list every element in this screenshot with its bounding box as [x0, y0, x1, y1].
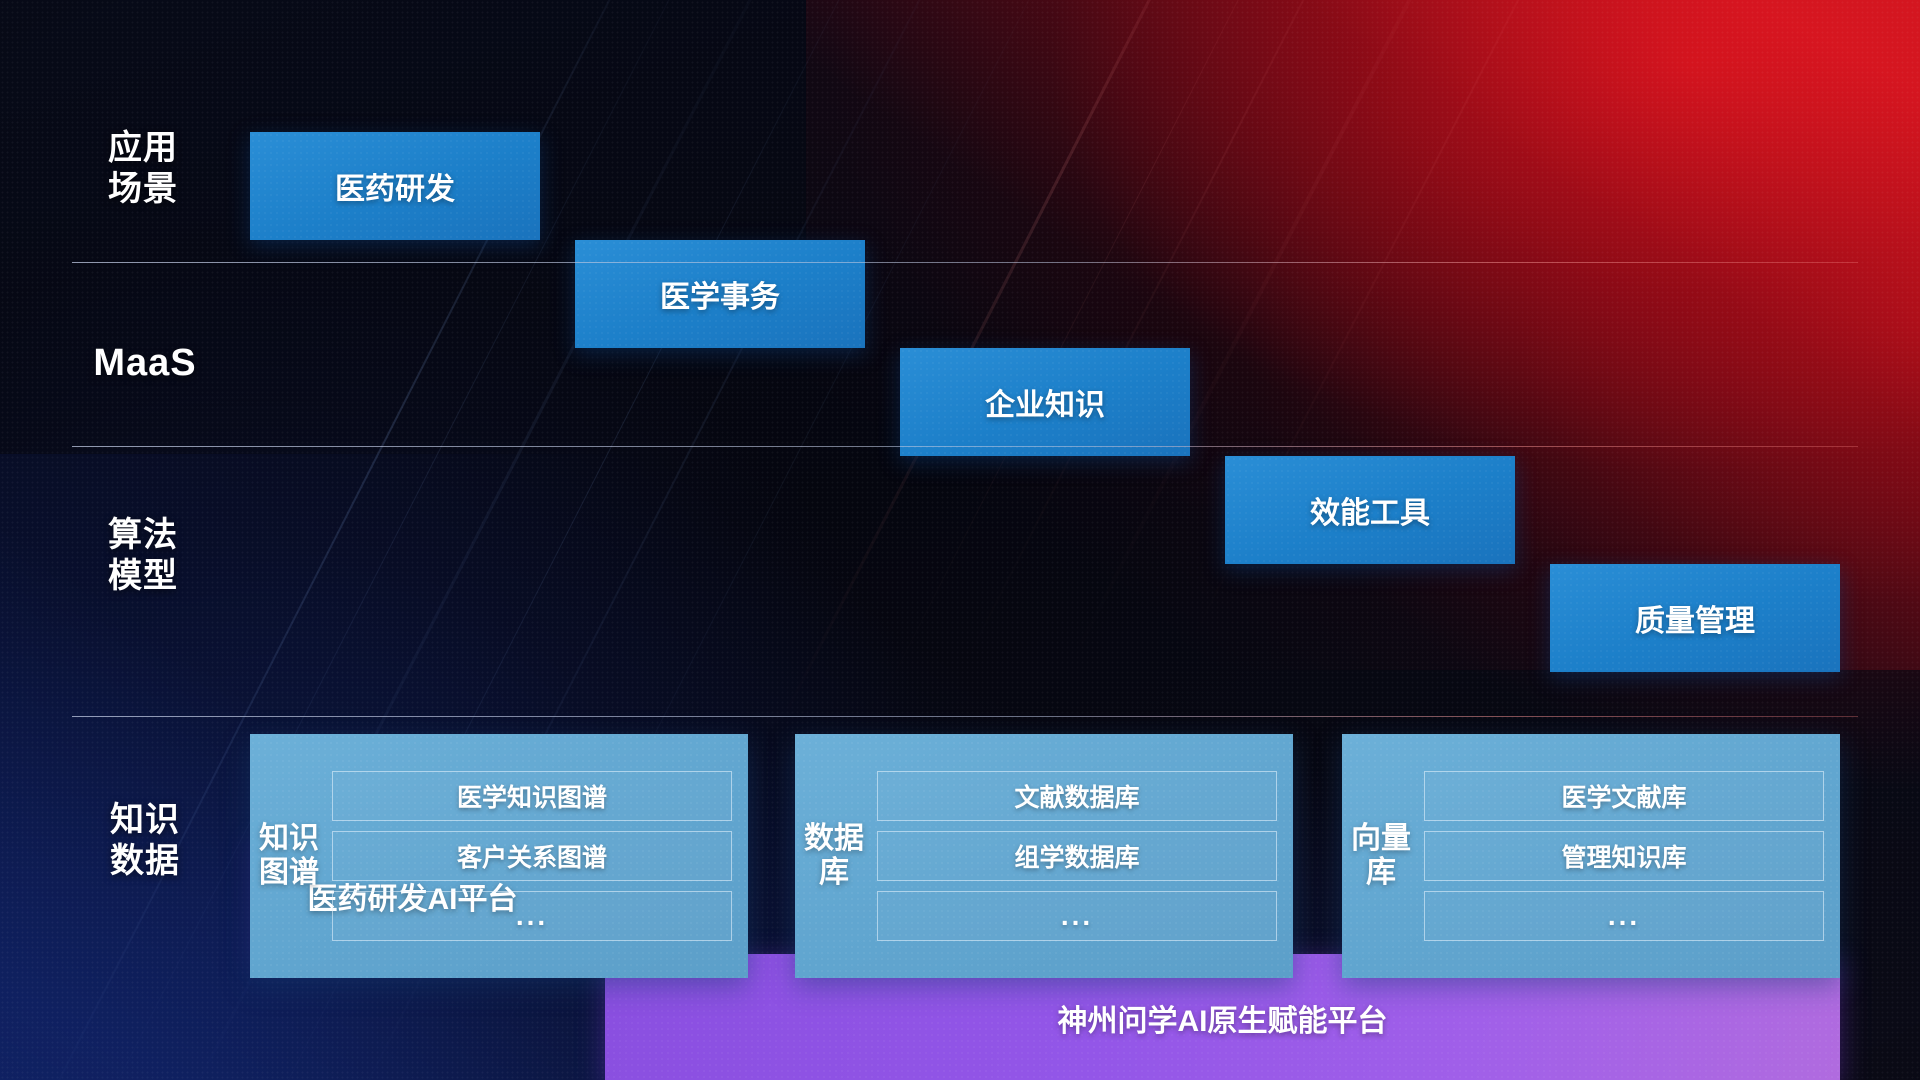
row-label-knowledge-line2: 数据	[80, 841, 210, 882]
application-cell-3[interactable]: 效能工具	[1225, 456, 1515, 564]
application-cell-2-label: 企业知识	[985, 380, 1105, 424]
divider-maas-algorithm	[72, 446, 1858, 447]
knowledge-panel-database-item-0[interactable]: 文献数据库	[877, 771, 1277, 821]
row-label-knowledge-line1: 知识	[80, 800, 210, 841]
maas-platform-shenzhou-label: 神州问学AI原生赋能平台	[1058, 996, 1388, 1040]
knowledge-panel-database[interactable]: 数据库 文献数据库 组学数据库 ...	[795, 734, 1293, 978]
knowledge-panel-graph-title: 知识图谱	[250, 734, 328, 978]
row-label-application: 应用 场景	[88, 128, 198, 211]
row-label-maas: MaaS	[80, 340, 210, 386]
row-label-algorithm: 算法 模型	[88, 515, 198, 598]
row-label-application-line1: 应用	[88, 128, 198, 169]
knowledge-panel-vector-item-2[interactable]: ...	[1424, 891, 1824, 941]
application-cell-3-label: 效能工具	[1310, 488, 1430, 532]
application-cell-4[interactable]: 质量管理	[1550, 564, 1840, 672]
row-label-algorithm-line2: 模型	[88, 556, 198, 597]
knowledge-panel-graph-item-1[interactable]: 客户关系图谱	[332, 831, 732, 881]
divider-algorithm-knowledge	[72, 716, 1858, 717]
knowledge-panel-graph-item-2[interactable]: ...	[332, 891, 732, 941]
application-cell-1[interactable]: 医学事务	[575, 240, 865, 348]
knowledge-panel-graph-item-0[interactable]: 医学知识图谱	[332, 771, 732, 821]
knowledge-panel-graph[interactable]: 知识图谱 医学知识图谱 客户关系图谱 ...	[250, 734, 748, 978]
knowledge-panel-database-item-1[interactable]: 组学数据库	[877, 831, 1277, 881]
application-cell-4-label: 质量管理	[1635, 596, 1755, 640]
row-label-maas-text: MaaS	[80, 340, 210, 386]
application-cell-2[interactable]: 企业知识	[900, 348, 1190, 456]
knowledge-panel-database-title: 数据库	[795, 734, 873, 978]
knowledge-panel-vector-item-0[interactable]: 医学文献库	[1424, 771, 1824, 821]
knowledge-panel-graph-items: 医学知识图谱 客户关系图谱 ...	[328, 734, 748, 978]
divider-application-maas	[72, 262, 1858, 263]
application-cell-1-label: 医学事务	[660, 272, 780, 316]
row-label-application-line2: 场景	[88, 169, 198, 210]
knowledge-panel-vector-items: 医学文献库 管理知识库 ...	[1420, 734, 1840, 978]
architecture-diagram: 应用 场景 医药研发 医学事务 企业知识 效能工具 质量管理 MaaS 医药研发…	[0, 0, 1920, 1080]
row-label-knowledge: 知识 数据	[80, 800, 210, 883]
application-cell-0[interactable]: 医药研发	[250, 132, 540, 240]
knowledge-panel-database-item-2[interactable]: ...	[877, 891, 1277, 941]
row-label-algorithm-line1: 算法	[88, 515, 198, 556]
knowledge-panel-database-items: 文献数据库 组学数据库 ...	[873, 734, 1293, 978]
knowledge-panel-vector-item-1[interactable]: 管理知识库	[1424, 831, 1824, 881]
application-cell-0-label: 医药研发	[335, 164, 455, 208]
knowledge-panel-vector-title: 向量库	[1342, 734, 1420, 978]
knowledge-panel-vector[interactable]: 向量库 医学文献库 管理知识库 ...	[1342, 734, 1840, 978]
